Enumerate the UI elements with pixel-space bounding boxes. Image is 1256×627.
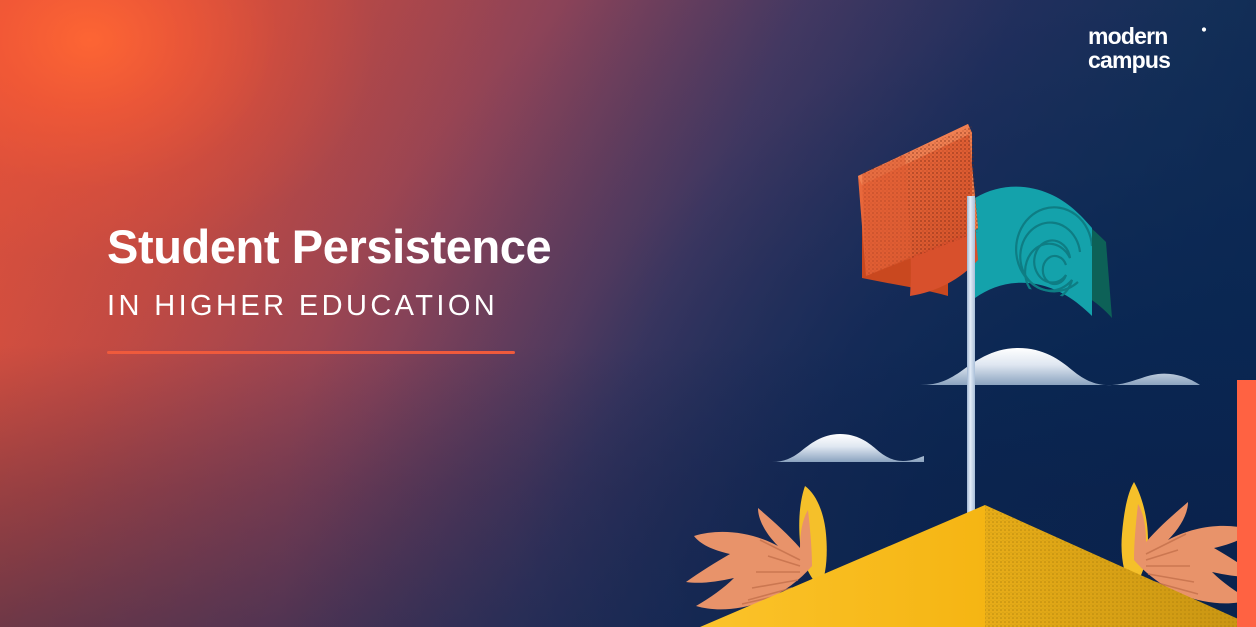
logo-dot-icon (1202, 27, 1206, 31)
banner-root: Student Persistence IN HIGHER EDUCATION … (0, 0, 1256, 627)
logo-line2-text: campus (1088, 47, 1170, 73)
page-subtitle: IN HIGHER EDUCATION (107, 290, 667, 323)
page-title: Student Persistence (107, 222, 667, 271)
headline-block: Student Persistence IN HIGHER EDUCATION (107, 222, 667, 354)
right-edge-accent-stripe (1237, 380, 1256, 627)
accent-divider (107, 351, 515, 354)
modern-campus-logo[interactable]: modern campus (1088, 22, 1222, 74)
logo-line1-text: modern (1088, 23, 1168, 49)
